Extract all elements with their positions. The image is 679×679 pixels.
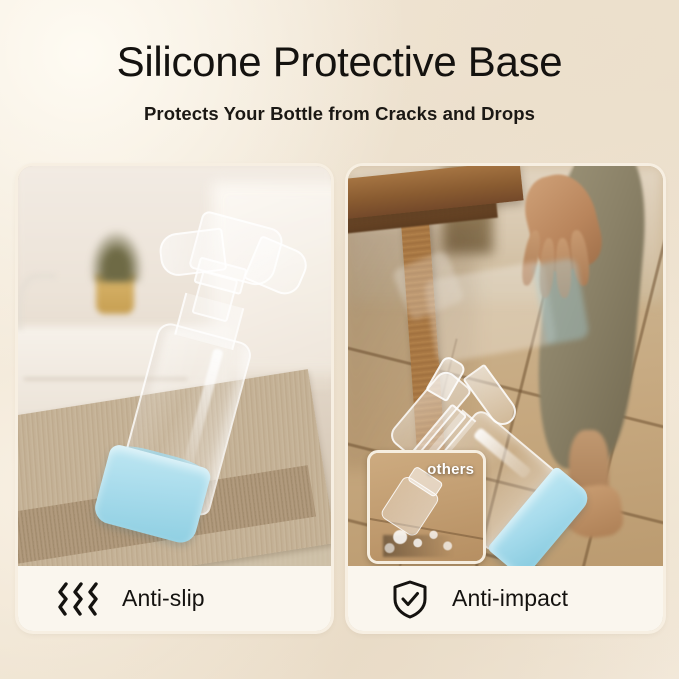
page-title: Silicone Protective Base [0,41,679,83]
inset-shattered-glass [379,520,467,557]
photo-anti-slip [18,166,331,566]
feature-panel-anti-slip: Anti-slip [18,166,331,631]
page-subtitle: Protects Your Bottle from Cracks and Dro… [0,103,679,125]
shield-check-icon [382,579,438,619]
inset-label-others: others [427,461,474,478]
zigzag-waves-icon [52,582,108,616]
feature-panel-anti-impact: others Anti-impact [348,166,663,631]
caption-label-anti-impact: Anti-impact [452,585,568,612]
plant-leaves [90,230,143,282]
caption-anti-slip: Anti-slip [18,566,331,631]
photo-anti-impact: others [348,166,663,566]
faucet [18,274,56,330]
sprayer-trigger [157,228,227,279]
caption-anti-impact: Anti-impact [348,566,663,631]
others-comparison-inset: others [367,450,486,564]
header: Silicone Protective Base Protects Your B… [0,0,679,125]
caption-label-anti-slip: Anti-slip [122,585,205,612]
